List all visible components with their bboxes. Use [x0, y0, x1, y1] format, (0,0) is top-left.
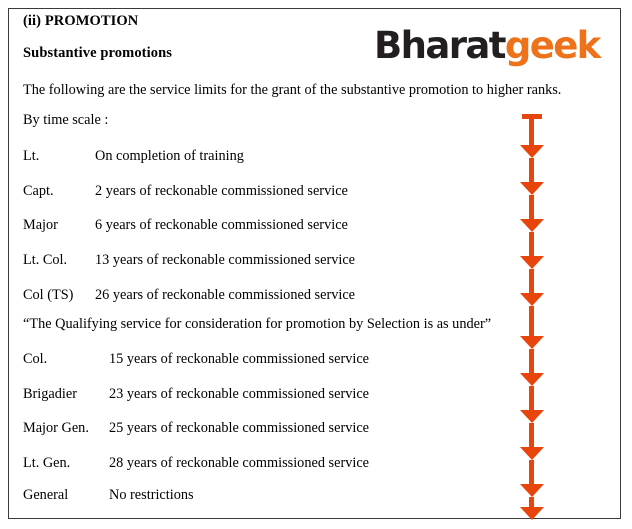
- arrow-head-icon: [520, 373, 544, 386]
- logo-text-bharat: Bharat: [374, 24, 505, 67]
- rank-requirement: 2 years of reckonable commissioned servi…: [95, 183, 348, 200]
- arrow-head-icon: [520, 447, 544, 460]
- arrow-head-icon: [520, 256, 544, 269]
- arrow-head-icon: [520, 219, 544, 232]
- rank-name: Capt.: [23, 183, 54, 200]
- bharatgeek-logo: Bharatgeek: [374, 27, 600, 64]
- rank-requirement: 6 years of reckonable commissioned servi…: [95, 217, 348, 234]
- arrow-shaft: [529, 195, 534, 221]
- arrow-shaft: [529, 269, 534, 295]
- rank-name: Col (TS): [23, 287, 73, 304]
- arrow-shaft: [529, 349, 534, 375]
- rank-requirement: 13 years of reckonable commissioned serv…: [95, 252, 355, 269]
- arrow-shaft: [529, 460, 534, 486]
- arrow-head-icon: [520, 336, 544, 349]
- rank-requirement: 28 years of reckonable commissioned serv…: [109, 455, 369, 472]
- arrow-shaft: [529, 386, 534, 412]
- rank-requirement: 15 years of reckonable commissioned serv…: [109, 351, 369, 368]
- page-content: (ii) PROMOTION Substantive promotions Th…: [9, 9, 622, 520]
- rank-requirement: 26 years of reckonable commissioned serv…: [95, 287, 355, 304]
- downward-arrow-chain-graphic: [513, 114, 557, 514]
- arrow-head-icon: [520, 145, 544, 158]
- arrow-head-icon: [520, 293, 544, 306]
- rank-requirement: 25 years of reckonable commissioned serv…: [109, 420, 369, 437]
- logo-text-geek: geek: [505, 24, 600, 67]
- arrow-head-icon: [520, 507, 544, 520]
- arrow-head-icon: [520, 410, 544, 423]
- arrow-head-icon: [520, 182, 544, 195]
- rank-requirement: 23 years of reckonable commissioned serv…: [109, 386, 369, 403]
- arrow-head-icon: [520, 484, 544, 497]
- rank-name: Lt. Gen.: [23, 455, 70, 472]
- arrow-shaft: [529, 423, 534, 449]
- section-heading: (ii) PROMOTION: [23, 13, 138, 30]
- rank-requirement: No restrictions: [109, 487, 194, 504]
- arrow-shaft: [529, 232, 534, 258]
- time-scale-label: By time scale :: [23, 112, 108, 129]
- page-border-frame: (ii) PROMOTION Substantive promotions Th…: [8, 8, 621, 519]
- rank-name: Major Gen.: [23, 420, 89, 437]
- rank-requirement: On completion of training: [95, 148, 244, 165]
- document-page: (ii) PROMOTION Substantive promotions Th…: [0, 0, 632, 529]
- rank-name: Col.: [23, 351, 47, 368]
- rank-name: Brigadier: [23, 386, 77, 403]
- arrow-shaft: [529, 158, 534, 184]
- rank-name: Lt.: [23, 148, 39, 165]
- subsection-heading: Substantive promotions: [23, 45, 172, 62]
- rank-name: General: [23, 487, 68, 504]
- intro-paragraph: The following are the service limits for…: [23, 82, 561, 99]
- rank-name: Lt. Col.: [23, 252, 67, 269]
- selection-quote: “The Qualifying service for consideratio…: [23, 316, 491, 333]
- arrow-shaft: [529, 306, 534, 338]
- rank-name: Major: [23, 217, 58, 234]
